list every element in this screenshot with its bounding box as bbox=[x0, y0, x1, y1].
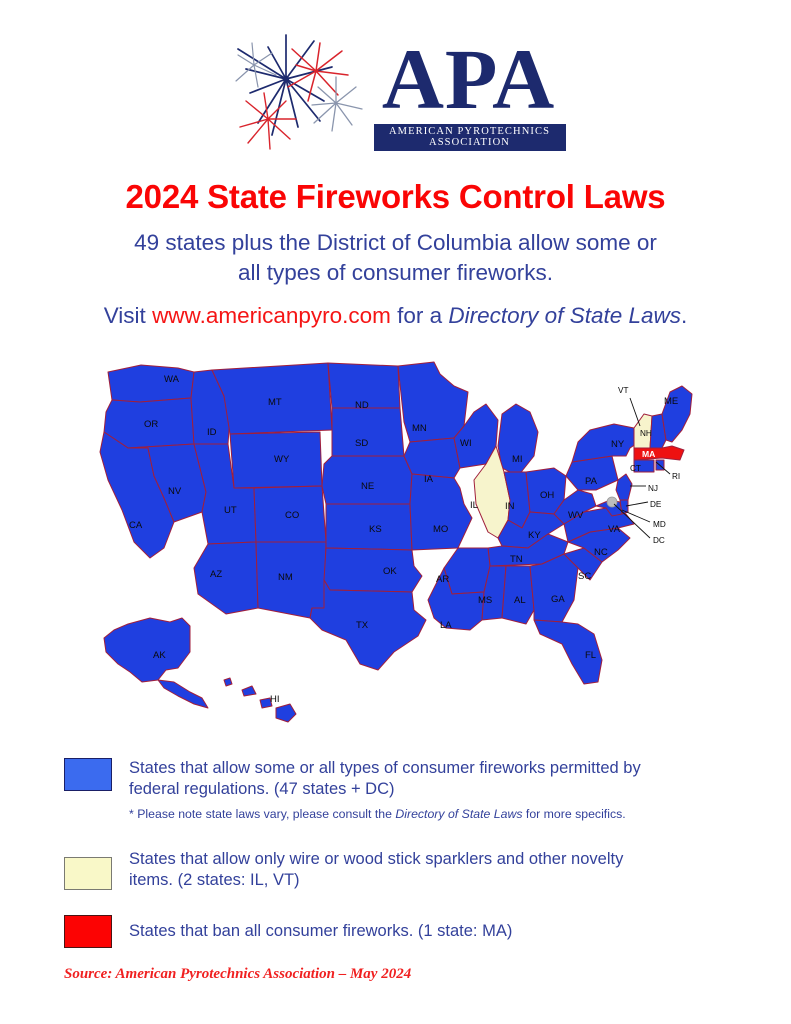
state-label-WI: WI bbox=[460, 438, 472, 449]
state-label-FL: FL bbox=[585, 650, 596, 661]
map-legend: States that allow some or all types of c… bbox=[64, 758, 764, 948]
legend-item-red[interactable]: States that ban all consumer fireworks. … bbox=[64, 915, 764, 948]
state-label-WY: WY bbox=[274, 454, 290, 465]
state-HI-1 bbox=[224, 678, 232, 686]
state-label-TX: TX bbox=[356, 620, 369, 631]
state-ME bbox=[662, 386, 692, 442]
page-title: 2024 State Fireworks Control Laws bbox=[0, 178, 791, 216]
state-label-CT: CT bbox=[630, 464, 641, 473]
state-OK bbox=[324, 548, 422, 592]
state-IA bbox=[404, 438, 460, 478]
state-label-RI: RI bbox=[672, 472, 680, 481]
state-label-ID: ID bbox=[207, 427, 217, 438]
subtitle-line-2: all types of consumer fireworks. bbox=[0, 258, 791, 288]
visit-line: Visit www.americanpyro.com for a Directo… bbox=[0, 303, 791, 329]
state-label-DE: DE bbox=[650, 500, 662, 509]
state-AR bbox=[444, 548, 490, 594]
state-label-MI: MI bbox=[512, 454, 523, 465]
state-AZ bbox=[194, 542, 258, 614]
visit-middle: for a bbox=[391, 303, 449, 328]
state-HI-2 bbox=[242, 686, 256, 696]
state-label-PA: PA bbox=[585, 476, 598, 487]
state-label-GA: GA bbox=[551, 594, 565, 605]
legend-blue-line-1: States that allow some or all types of c… bbox=[129, 758, 641, 779]
state-label-NE: NE bbox=[361, 481, 374, 492]
state-label-NM: NM bbox=[278, 572, 293, 583]
state-label-NH: NH bbox=[640, 429, 652, 438]
state-label-TN: TN bbox=[510, 554, 523, 565]
blue-swatch bbox=[64, 758, 112, 791]
state-MN bbox=[398, 362, 468, 442]
logo-wordmark: APA bbox=[374, 36, 564, 122]
red-swatch bbox=[64, 915, 112, 948]
legend-text-blue: States that allow some or all types of c… bbox=[129, 758, 641, 800]
visit-suffix: . bbox=[681, 303, 687, 328]
state-label-AZ: AZ bbox=[210, 569, 222, 580]
state-MO bbox=[410, 474, 472, 550]
state-NJ bbox=[616, 474, 632, 500]
legend-footnote: * Please note state laws vary, please co… bbox=[129, 807, 764, 821]
state-label-ND: ND bbox=[355, 400, 369, 411]
state-label-VA: VA bbox=[608, 524, 621, 535]
source-line: Source: American Pyrotechnics Associatio… bbox=[64, 966, 411, 983]
state-label-AK: AK bbox=[153, 650, 166, 661]
state-label-CO: CO bbox=[285, 510, 299, 521]
page-subtitle: 49 states plus the District of Columbia … bbox=[0, 228, 791, 288]
fireworks-burst-icon bbox=[228, 31, 368, 156]
legend-item-blue[interactable]: States that allow some or all types of c… bbox=[64, 758, 764, 800]
state-label-LA: LA bbox=[440, 620, 452, 631]
state-label-MT: MT bbox=[268, 397, 282, 408]
state-label-NV: NV bbox=[168, 486, 182, 497]
state-label-AR: AR bbox=[436, 574, 449, 585]
state-label-IA: IA bbox=[424, 474, 434, 485]
state-AK-tail bbox=[158, 680, 208, 708]
apa-logo: APA AMERICAN PYROTECHNICS ASSOCIATION bbox=[0, 26, 791, 161]
state-label-MS: MS bbox=[478, 595, 492, 606]
state-label-NC: NC bbox=[594, 547, 608, 558]
state-label-IL: IL bbox=[470, 500, 478, 511]
footnote-prefix: * Please note state laws vary, please co… bbox=[129, 807, 395, 821]
state-label-SD: SD bbox=[355, 438, 368, 449]
state-MI bbox=[498, 404, 538, 476]
state-label-MD: MD bbox=[653, 520, 666, 529]
logo-banner-text: AMERICAN PYROTECHNICS ASSOCIATION bbox=[374, 124, 566, 151]
legend-item-cream[interactable]: States that allow only wire or wood stic… bbox=[64, 849, 764, 891]
state-label-UT: UT bbox=[224, 505, 237, 516]
state-label-AL: AL bbox=[514, 595, 526, 606]
state-label-MA: MA bbox=[642, 449, 655, 459]
state-label-OH: OH bbox=[540, 490, 554, 501]
state-label-WV: WV bbox=[568, 510, 584, 521]
legend-red-line-1: States that ban all consumer fireworks. … bbox=[129, 921, 512, 942]
cream-swatch bbox=[64, 857, 112, 890]
legend-text-cream: States that allow only wire or wood stic… bbox=[129, 849, 623, 891]
state-label-OK: OK bbox=[383, 566, 397, 577]
state-NE bbox=[322, 456, 412, 504]
directory-of-state-laws-text: Directory of State Laws bbox=[448, 303, 681, 328]
state-label-WA: WA bbox=[164, 374, 180, 385]
website-link[interactable]: www.americanpyro.com bbox=[152, 303, 391, 328]
state-label-DC: DC bbox=[653, 536, 665, 545]
state-AK bbox=[104, 618, 190, 682]
state-label-HI: HI bbox=[270, 694, 280, 705]
legend-text-red: States that ban all consumer fireworks. … bbox=[129, 921, 512, 942]
us-fireworks-laws-map[interactable]: WA MT ND MN OR ID SD WI WY MI NV NE IA I… bbox=[78, 352, 718, 732]
state-label-IN: IN bbox=[505, 501, 515, 512]
state-label-KS: KS bbox=[369, 524, 382, 535]
state-label-MO: MO bbox=[433, 524, 448, 535]
state-label-VT: VT bbox=[618, 386, 628, 395]
state-label-KY: KY bbox=[528, 530, 541, 541]
legend-blue-line-2: federal regulations. (47 states + DC) bbox=[129, 779, 641, 800]
state-label-OR: OR bbox=[144, 419, 158, 430]
state-WA bbox=[108, 365, 194, 402]
footnote-italic: Directory of State Laws bbox=[395, 807, 522, 821]
state-label-CA: CA bbox=[129, 520, 143, 531]
footnote-suffix: for more specifics. bbox=[522, 807, 625, 821]
subtitle-line-1: 49 states plus the District of Columbia … bbox=[0, 228, 791, 258]
state-label-NJ: NJ bbox=[648, 484, 658, 493]
state-label-ME: ME bbox=[664, 396, 678, 407]
state-label-NY: NY bbox=[611, 439, 625, 450]
state-NY bbox=[572, 424, 642, 462]
state-HI-4 bbox=[276, 704, 296, 722]
legend-cream-line-2: items. (2 states: IL, VT) bbox=[129, 870, 623, 891]
map-svg: WA MT ND MN OR ID SD WI WY MI NV NE IA I… bbox=[78, 352, 718, 732]
state-label-MN: MN bbox=[412, 423, 427, 434]
visit-prefix: Visit bbox=[104, 303, 152, 328]
state-label-SC: SC bbox=[578, 571, 591, 582]
legend-cream-line-1: States that allow only wire or wood stic… bbox=[129, 849, 623, 870]
